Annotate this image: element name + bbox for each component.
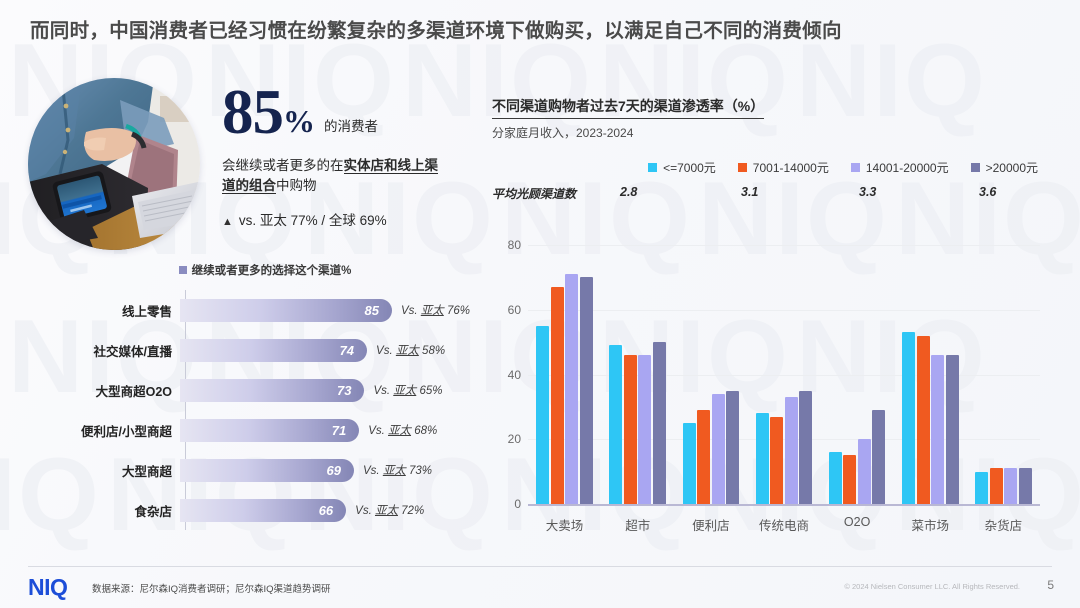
bar-income-1 (683, 423, 696, 504)
left-chart-bar-wrap: 66 Vs. 亚太 72% (180, 499, 470, 522)
left-chart-bar-annotation: Vs. 亚太 68% (368, 422, 437, 438)
left-chart-bar-value: 71 (332, 423, 346, 438)
x-axis-label: 大卖场 (546, 515, 584, 534)
bar-group-supermarket: 超市 (601, 245, 674, 504)
stat-description: 会继续或者更多的在实体店和线上渠道的组合中购物 (222, 156, 448, 197)
annotation-value: 65% (416, 385, 442, 397)
stat-desc-suffix: 中购物 (276, 178, 317, 193)
left-chart-row: 食杂店 66 Vs. 亚太 72% (30, 490, 470, 530)
annotation-value: 68% (411, 425, 437, 437)
left-chart-bar: 69 (180, 459, 354, 482)
stat-suffix: 的消费者 (315, 115, 378, 142)
stat-comparison-text: vs. 亚太 77% / 全球 69% (239, 213, 387, 228)
bar-income-4 (1019, 468, 1032, 504)
footer-source-text: 数据来源：尼尔森IQ消费者调研；尼尔森IQ渠道趋势调研 (92, 581, 331, 595)
bar-income-1 (756, 413, 769, 504)
left-chart-row: 大型商超O2O 73 Vs. 亚太 65% (30, 370, 470, 410)
left-chart-row: 线上零售 85 Vs. 亚太 76% (30, 290, 470, 330)
avg-channels-value: 2.8 (620, 185, 637, 199)
legend-item-income-1[interactable]: <=7000元 (648, 159, 716, 176)
right-chart-title: 不同渠道购物者过去7天的渠道渗透率（%） (492, 96, 764, 119)
left-chart-category-label: 便利店/小型商超 (30, 421, 180, 440)
x-axis-label: 杂货店 (985, 515, 1023, 534)
left-chart-category-label: 大型商超 (30, 461, 180, 480)
x-axis-label: O2O (844, 515, 870, 529)
annotation-prefix: Vs. (401, 305, 421, 317)
stat-desc-prefix: 会继续或者更多的在 (222, 158, 344, 173)
bar-income-3 (565, 274, 578, 504)
annotation-region: 亚太 (375, 505, 398, 517)
bar-income-2 (624, 355, 637, 504)
bar-income-3 (1004, 468, 1017, 504)
bar-income-4 (872, 410, 885, 504)
plot-area: 80 60 40 20 0 大卖场 超市 (528, 245, 1040, 504)
annotation-value: 76% (444, 305, 470, 317)
bar-income-1 (902, 332, 915, 504)
stat-block: 85 % 的消费者 会继续或者更多的在实体店和线上渠道的组合中购物 ▲vs. 亚… (222, 84, 472, 229)
bar-income-3 (931, 355, 944, 504)
bar-income-2 (917, 336, 930, 504)
x-axis-label: 菜市场 (912, 515, 950, 534)
stat-number: 85 (222, 84, 283, 142)
avg-channels-value: 3.6 (979, 185, 996, 199)
bar-income-3 (785, 397, 798, 504)
left-chart-bar-value: 74 (340, 343, 354, 358)
annotation-prefix: Vs. (373, 385, 393, 397)
left-chart-bar: 74 (180, 339, 367, 362)
annotation-value: 73% (406, 465, 432, 477)
bar-groups: 大卖场 超市 便利店 (528, 245, 1040, 504)
left-chart-bar: 73 (180, 379, 364, 402)
hero-photo-shopper-mobile (28, 78, 200, 250)
avg-channels-label: 平均光顾渠道数 (492, 185, 576, 202)
left-chart-bar: 85 (180, 299, 392, 322)
left-chart-category-label: 食杂店 (30, 501, 180, 520)
left-chart-bar-wrap: 85 Vs. 亚太 76% (180, 299, 470, 322)
left-chart-bar-annotation: Vs. 亚太 72% (355, 502, 424, 518)
footer-page-number: 5 (1047, 578, 1054, 592)
left-chart-bar-wrap: 74 Vs. 亚太 58% (180, 339, 470, 362)
avg-channels-value: 3.1 (741, 185, 758, 199)
left-chart-bar-annotation: Vs. 亚太 58% (376, 342, 445, 358)
left-chart-bar-value: 66 (319, 503, 333, 518)
bar-income-4 (653, 342, 666, 504)
left-chart-row: 社交媒体/直播 74 Vs. 亚太 58% (30, 330, 470, 370)
stat-comparison: ▲vs. 亚太 77% / 全球 69% (222, 209, 472, 229)
right-chart-legend: <=7000元 7001-14000元 14001-20000元 >20000元 (492, 159, 1052, 176)
left-chart-bar-wrap: 71 Vs. 亚太 68% (180, 419, 470, 442)
footer-copyright: © 2024 Nielsen Consumer LLC. All Rights … (844, 582, 1020, 591)
bar-group-grocery: 杂货店 (967, 245, 1040, 504)
legend-item-label: 14001-20000元 (866, 159, 949, 176)
left-chart-bar-annotation: Vs. 亚太 65% (373, 382, 442, 398)
bar-income-1 (829, 452, 842, 504)
annotation-prefix: Vs. (376, 345, 396, 357)
left-chart-category-label: 大型商超O2O (30, 381, 180, 400)
bar-income-2 (551, 287, 564, 504)
legend-item-income-2[interactable]: 7001-14000元 (738, 159, 829, 176)
page-title: 而同时，中国消费者已经习惯在纷繁复杂的多渠道环境下做购买，以满足自己不同的消费倾… (30, 14, 1050, 43)
annotation-region: 亚太 (421, 305, 444, 317)
left-chart-bar-value: 73 (337, 383, 351, 398)
bar-income-4 (799, 391, 812, 504)
legend-swatch-icon (738, 163, 747, 172)
gridline-0: 0 (528, 504, 1040, 506)
bar-group-wetmarket: 菜市场 (894, 245, 967, 504)
bar-group-convenience: 便利店 (674, 245, 747, 504)
bar-income-2 (770, 417, 783, 504)
left-chart-bar-value: 85 (365, 303, 379, 318)
left-chart-category-label: 线上零售 (30, 301, 180, 320)
niq-logo: NIQ (28, 574, 67, 601)
left-chart-rows: 线上零售 85 Vs. 亚太 76% 社交媒体/直播 74 Vs. 亚太 58% (30, 290, 470, 530)
left-chart-legend-label: 继续或者更多的选择这个渠道% (192, 262, 352, 278)
bar-income-4 (946, 355, 959, 504)
right-chart-subtitle: 分家庭月收入，2023-2024 (492, 124, 1052, 141)
annotation-prefix: Vs. (363, 465, 383, 477)
footer-divider (28, 566, 1052, 567)
right-grouped-bar-chart: 80 60 40 20 0 大卖场 超市 (492, 238, 1052, 538)
bar-income-1 (609, 345, 622, 504)
y-axis-tick-60: 60 (508, 303, 521, 317)
left-chart-row: 便利店/小型商超 71 Vs. 亚太 68% (30, 410, 470, 450)
bar-income-1 (536, 326, 549, 504)
left-chart-axis-line (185, 290, 186, 530)
x-axis-label: 传统电商 (759, 515, 809, 534)
annotation-region: 亚太 (383, 465, 406, 477)
legend-item-label: 7001-14000元 (753, 159, 829, 176)
annotation-prefix: Vs. (355, 505, 375, 517)
bar-income-2 (843, 455, 856, 504)
y-axis-tick-40: 40 (508, 368, 521, 382)
x-axis-label: 超市 (625, 515, 650, 534)
left-chart-bar: 71 (180, 419, 359, 442)
annotation-region: 亚太 (393, 385, 416, 397)
legend-swatch-icon (648, 163, 657, 172)
triangle-up-icon: ▲ (222, 216, 233, 228)
left-chart-bar-annotation: Vs. 亚太 73% (363, 462, 432, 478)
legend-item-label: <=7000元 (663, 159, 716, 176)
y-axis-tick-80: 80 (508, 238, 521, 252)
avg-channels-row: 平均光顾渠道数 2.8 3.1 3.3 3.6 (492, 185, 1052, 202)
bar-income-3 (712, 394, 725, 504)
left-chart-bar-wrap: 73 Vs. 亚太 65% (180, 379, 470, 402)
legend-item-income-3[interactable]: 14001-20000元 (851, 159, 949, 176)
annotation-value: 58% (419, 345, 445, 357)
left-chart-bar-annotation: Vs. 亚太 76% (401, 302, 470, 318)
annotation-value: 72% (398, 505, 424, 517)
bar-income-3 (858, 439, 871, 504)
annotation-region: 亚太 (396, 345, 419, 357)
bar-group-hypermarket: 大卖场 (528, 245, 601, 504)
bar-income-4 (726, 391, 739, 504)
stat-headline-row: 85 % 的消费者 (222, 84, 472, 142)
bar-income-2 (990, 468, 1003, 504)
stat-percent-sign: % (283, 105, 315, 142)
bar-income-1 (975, 472, 988, 504)
legend-item-label: >20000元 (986, 159, 1038, 176)
left-bar-chart: 继续或者更多的选择这个渠道% 线上零售 85 Vs. 亚太 76% 社交媒体/直… (30, 262, 470, 540)
left-chart-category-label: 社交媒体/直播 (30, 341, 180, 360)
right-chart-header: 不同渠道购物者过去7天的渠道渗透率（%） 分家庭月收入，2023-2024 <=… (492, 96, 1052, 202)
legend-item-income-4[interactable]: >20000元 (971, 159, 1038, 176)
legend-swatch-icon (971, 163, 980, 172)
annotation-region: 亚太 (388, 425, 411, 437)
y-axis-tick-20: 20 (508, 432, 521, 446)
avg-channels-value: 3.3 (859, 185, 876, 199)
left-chart-legend: 继续或者更多的选择这个渠道% (60, 262, 470, 278)
annotation-prefix: Vs. (368, 425, 388, 437)
bar-income-3 (638, 355, 651, 504)
left-chart-bar: 66 (180, 499, 346, 522)
slide-canvas: NIQ NIQ NIQ NIQ NIQ NIQ NIQ NIQ NIQ NIQ … (0, 0, 1080, 608)
bar-income-2 (697, 410, 710, 504)
left-chart-bar-wrap: 69 Vs. 亚太 73% (180, 459, 470, 482)
bar-group-ecommerce: 传统电商 (747, 245, 820, 504)
legend-swatch-icon (179, 266, 187, 274)
bar-group-o2o: O2O (821, 245, 894, 504)
y-axis-tick-0: 0 (514, 497, 521, 511)
legend-swatch-icon (851, 163, 860, 172)
left-chart-bar-value: 69 (327, 463, 341, 478)
left-chart-row: 大型商超 69 Vs. 亚太 73% (30, 450, 470, 490)
bar-income-4 (580, 277, 593, 504)
x-axis-label: 便利店 (692, 515, 730, 534)
